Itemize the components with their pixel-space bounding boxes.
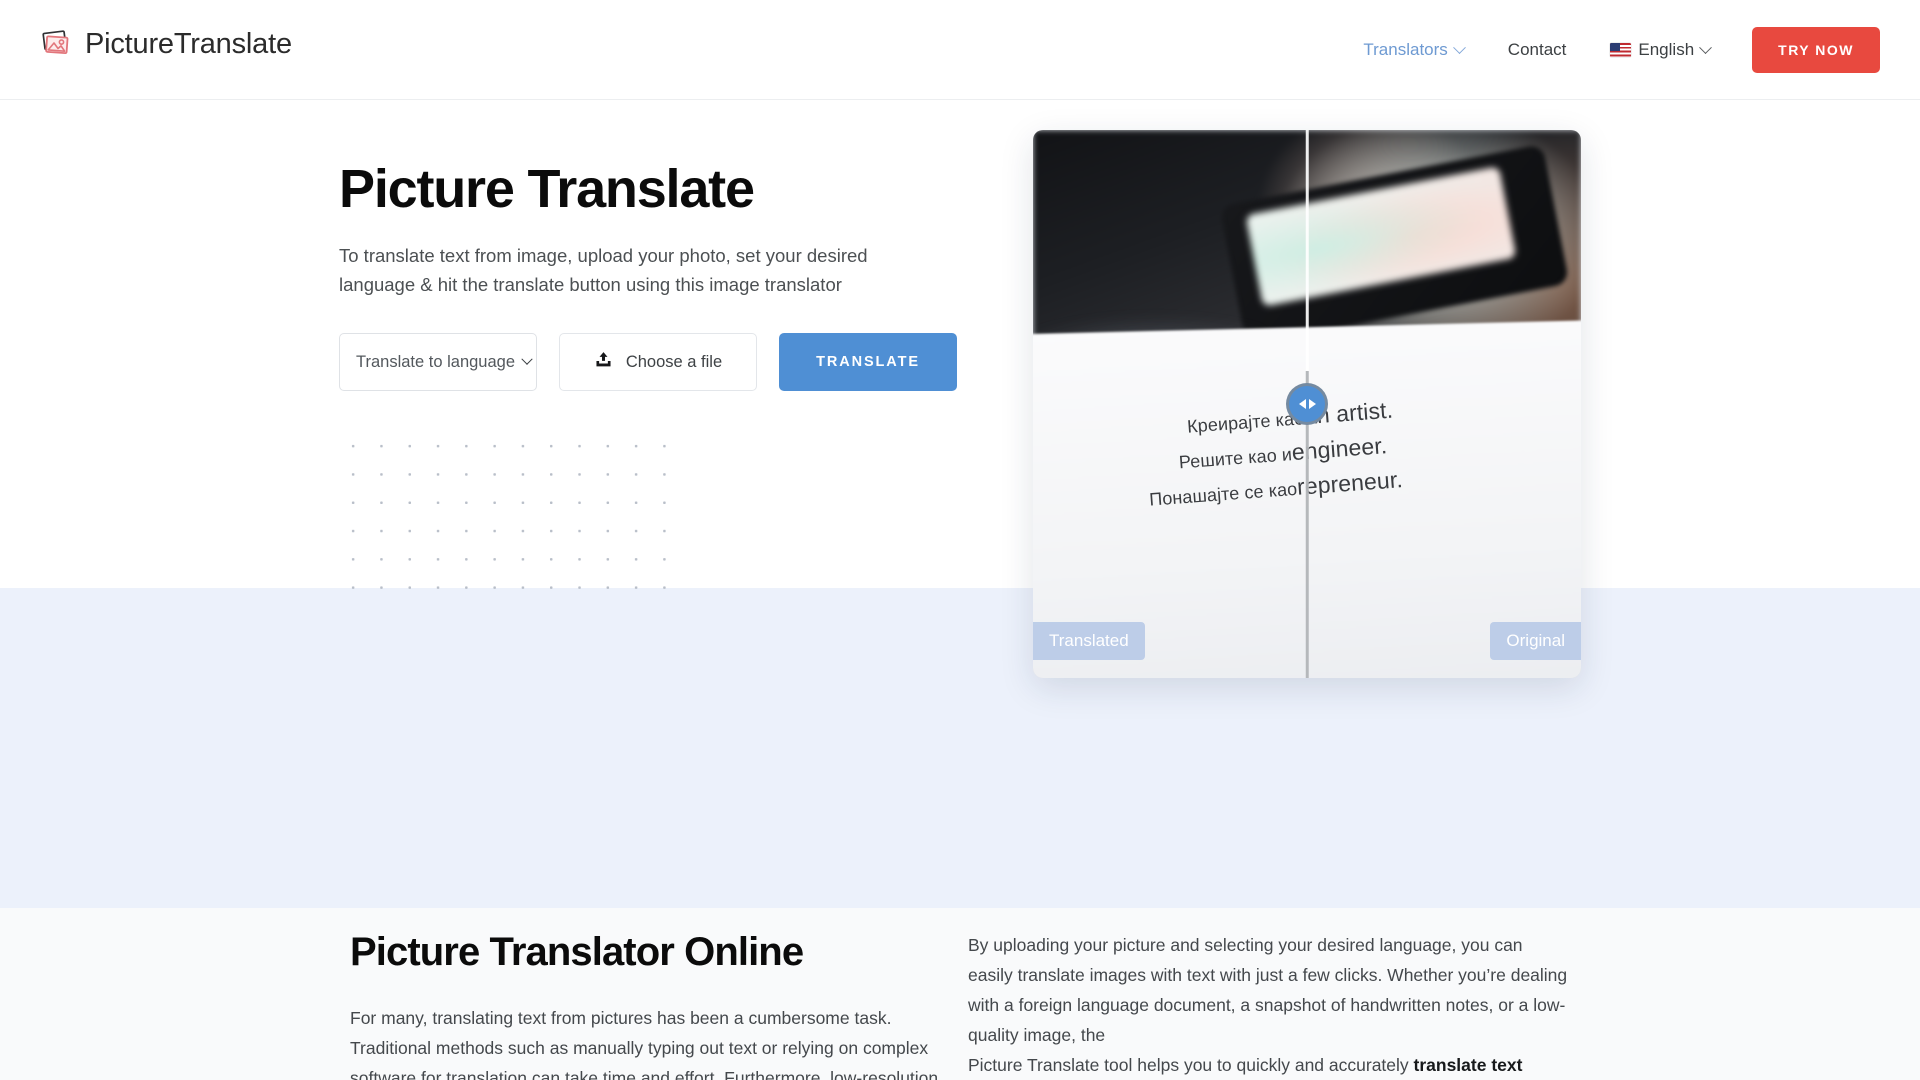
nav-item-translators-label: Translators (1363, 40, 1447, 60)
section-right-column: By uploading your picture and selecting … (968, 930, 1568, 1080)
section-right-paragraph-1: By uploading your picture and selecting … (968, 935, 1567, 1045)
before-after-slider[interactable]: Креирајте каоan artist. Решите као иengi… (1033, 130, 1581, 678)
translate-form: Translate to language Choose a file TRAN… (339, 333, 959, 391)
page-root: PictureTranslate Translators Contact Eng… (0, 0, 1920, 1080)
picture-translator-online-section: Picture Translator Online For many, tran… (0, 908, 1920, 1080)
language-selector-label: English (1638, 40, 1694, 60)
hero-subtitle: To translate text from image, upload you… (339, 242, 944, 300)
translated-badge: Translated (1033, 622, 1145, 660)
original-line-3: repreneur. (1296, 466, 1403, 500)
left-arrow-icon (1299, 399, 1306, 409)
original-badge: Original (1490, 622, 1581, 660)
chevron-down-icon (521, 354, 532, 365)
nav-item-contact[interactable]: Contact (1486, 40, 1589, 60)
translate-text-link[interactable]: translate text (1414, 1055, 1523, 1075)
choose-file-label: Choose a file (626, 353, 722, 372)
language-select-value: Translate to language (356, 353, 515, 372)
chevron-down-icon (1699, 41, 1712, 54)
section-left-column: Picture Translator Online For many, tran… (350, 930, 950, 1080)
slider-handle[interactable] (1286, 383, 1328, 425)
section-left-paragraph: For many, translating text from pictures… (350, 1003, 950, 1080)
right-arrow-icon (1309, 399, 1316, 409)
page-title: Picture Translate (339, 160, 959, 218)
translated-line-3: Понашајте се као (1149, 478, 1298, 509)
chevron-down-icon (1453, 41, 1466, 54)
upload-icon (594, 350, 613, 374)
language-selector[interactable]: English (1588, 40, 1732, 60)
hero-content: Picture Translate To translate text from… (339, 160, 959, 391)
picture-frames-icon (40, 27, 74, 61)
logo[interactable]: PictureTranslate (40, 27, 292, 61)
section-right-paragraph-2a: Picture Translate tool helps you to quic… (968, 1055, 1414, 1075)
nav-item-translators[interactable]: Translators (1341, 40, 1485, 60)
logo-text: PictureTranslate (85, 28, 292, 61)
hero-background-band (0, 588, 1920, 908)
language-select[interactable]: Translate to language (339, 333, 537, 391)
us-flag-icon (1610, 43, 1631, 57)
dot-grid-decoration (339, 432, 682, 610)
translated-line-2: Решите као и (1178, 444, 1292, 472)
main-nav: Translators Contact English TRY NOW (1341, 0, 1880, 100)
site-header: PictureTranslate Translators Contact Eng… (0, 0, 1920, 100)
section-title: Picture Translator Online (350, 930, 950, 975)
translate-button[interactable]: TRANSLATE (779, 333, 957, 391)
nav-item-contact-label: Contact (1508, 40, 1567, 60)
choose-file-button[interactable]: Choose a file (559, 333, 757, 391)
try-now-button[interactable]: TRY NOW (1752, 27, 1880, 73)
